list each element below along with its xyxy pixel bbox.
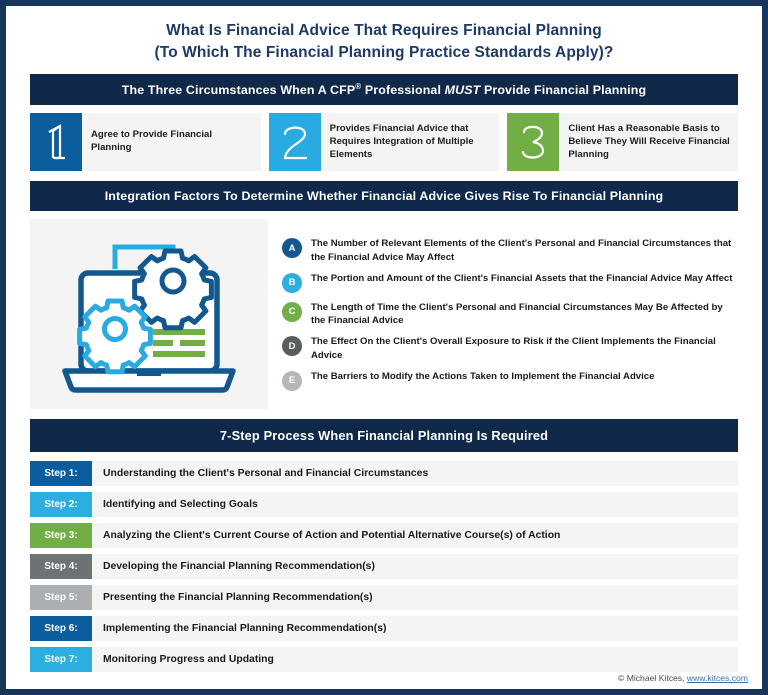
page-title-line-1: What Is Financial Advice That Requires F… [36,20,732,42]
circumstance-card-2: Provides Financial Advice that Requires … [269,113,500,171]
circumstance-text-2: Provides Financial Advice that Requires … [321,113,500,171]
step-row-7: Step 7: Monitoring Progress and Updating [30,647,738,672]
header-text-must: MUST [445,83,481,97]
step-label-7: Step 7: [30,647,92,672]
factor-text-d: The Effect On the Client's Overall Expos… [302,335,738,361]
section-header-three-circumstances: The Three Circumstances When A CFP® Prof… [30,74,738,105]
step-text-3: Analyzing the Client's Current Course of… [92,523,738,548]
step-row-6: Step 6: Implementing the Financial Plann… [30,616,738,641]
factor-badge-a: A [282,238,302,258]
copyright-text: © Michael Kitces, [618,673,687,683]
step-text-6: Implementing the Financial Planning Reco… [92,616,738,641]
header-text-mid: Professional [361,83,444,97]
factor-badge-b: B [282,273,302,293]
factor-text-c: The Length of Time the Client's Personal… [302,301,738,327]
step-text-4: Developing the Financial Planning Recomm… [92,554,738,579]
page-title-line-2: (To Which The Financial Planning Practic… [36,42,732,64]
factor-text-e: The Barriers to Modify the Actions Taken… [302,370,654,383]
integration-panel: A The Number of Relevant Elements of the… [30,219,738,409]
factor-item-d: D The Effect On the Client's Overall Exp… [282,335,738,361]
step-row-2: Step 2: Identifying and Selecting Goals [30,492,738,517]
factor-text-b: The Portion and Amount of the Client's F… [302,272,732,285]
factor-text-a: The Number of Relevant Elements of the C… [302,237,738,263]
step-label-6: Step 6: [30,616,92,641]
circumstance-card-3: Client Has a Reasonable Basis to Believe… [507,113,738,171]
step-row-4: Step 4: Developing the Financial Plannin… [30,554,738,579]
infographic-page: What Is Financial Advice That Requires F… [0,0,768,695]
header-text-post: Provide Financial Planning [480,83,646,97]
factor-item-b: B The Portion and Amount of the Client's… [282,272,738,293]
factor-badge-c: C [282,302,302,322]
integration-factors-list: A The Number of Relevant Elements of the… [278,219,738,409]
step-label-4: Step 4: [30,554,92,579]
footer-credit: © Michael Kitces, www.kitces.com [618,673,748,683]
circumstance-number-2 [269,113,321,171]
step-text-2: Identifying and Selecting Goals [92,492,738,517]
step-text-7: Monitoring Progress and Updating [92,647,738,672]
circumstance-number-3 [507,113,559,171]
step-text-1: Understanding the Client's Personal and … [92,461,738,486]
step-label-3: Step 3: [30,523,92,548]
laptop-gears-icon [30,219,268,409]
circumstance-card-1: Agree to Provide Financial Planning [30,113,261,171]
page-title: What Is Financial Advice That Requires F… [6,6,762,74]
step-label-2: Step 2: [30,492,92,517]
step-text-5: Presenting the Financial Planning Recomm… [92,585,738,610]
header-text-pre: The Three Circumstances When A CFP [122,83,355,97]
circumstance-text-1: Agree to Provide Financial Planning [82,113,261,171]
factor-item-e: E The Barriers to Modify the Actions Tak… [282,370,738,391]
factor-badge-d: D [282,336,302,356]
seven-step-list: Step 1: Understanding the Client's Perso… [30,461,738,672]
step-row-3: Step 3: Analyzing the Client's Current C… [30,523,738,548]
step-row-5: Step 5: Presenting the Financial Plannin… [30,585,738,610]
step-row-1: Step 1: Understanding the Client's Perso… [30,461,738,486]
step-label-1: Step 1: [30,461,92,486]
circumstance-number-1 [30,113,82,171]
factor-badge-e: E [282,371,302,391]
circumstance-text-3: Client Has a Reasonable Basis to Believe… [559,113,738,171]
section-header-integration-factors: Integration Factors To Determine Whether… [30,181,738,211]
factor-item-a: A The Number of Relevant Elements of the… [282,237,738,263]
section-header-seven-step: 7-Step Process When Financial Planning I… [30,419,738,452]
kitces-website-link[interactable]: www.kitces.com [687,673,748,683]
step-label-5: Step 5: [30,585,92,610]
three-circumstances-row: Agree to Provide Financial Planning Prov… [30,113,738,171]
factor-item-c: C The Length of Time the Client's Person… [282,301,738,327]
